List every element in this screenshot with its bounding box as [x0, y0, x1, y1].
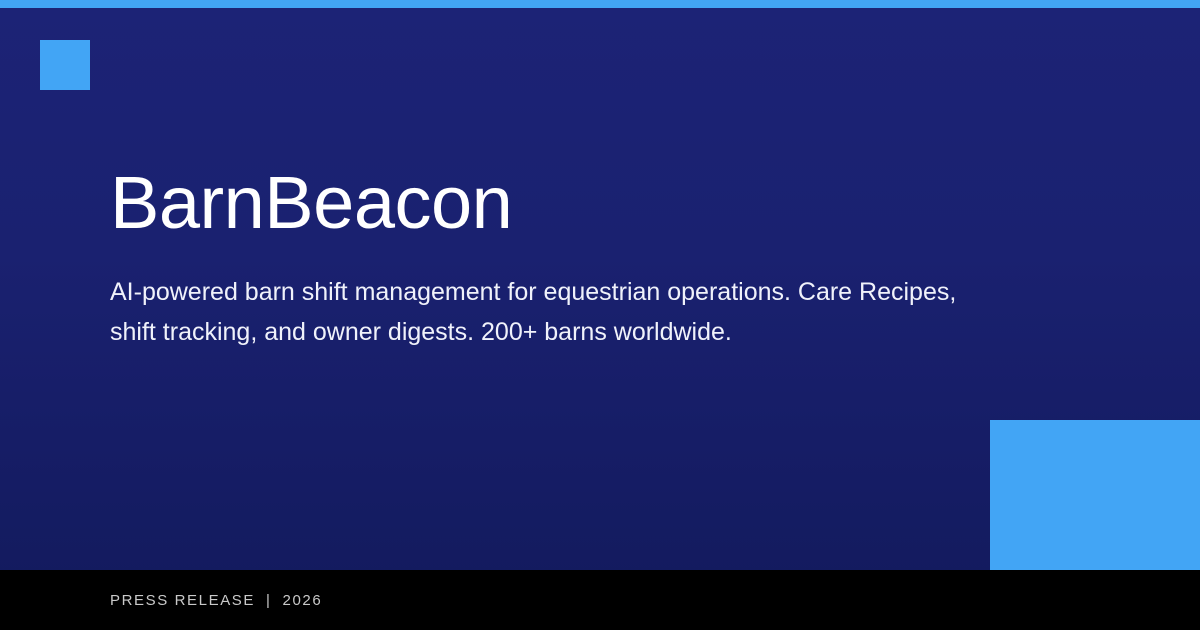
top-accent-strip [0, 0, 1200, 8]
press-release-slide: BarnBeacon AI-powered barn shift managem… [0, 0, 1200, 630]
footer-label: PRESS RELEASE [110, 592, 255, 609]
page-title: BarnBeacon [110, 160, 990, 246]
hero-content: BarnBeacon AI-powered barn shift managem… [110, 160, 990, 352]
square-logo-icon [40, 40, 90, 90]
footer-separator: | [266, 592, 272, 609]
footer-year: 2026 [283, 592, 323, 609]
footer-bar: PRESS RELEASE | 2026 [0, 570, 1200, 630]
hero-subtitle: AI-powered barn shift management for equ… [110, 272, 970, 352]
bottom-right-accent-block [990, 420, 1200, 570]
footer-meta: PRESS RELEASE | 2026 [110, 592, 322, 609]
